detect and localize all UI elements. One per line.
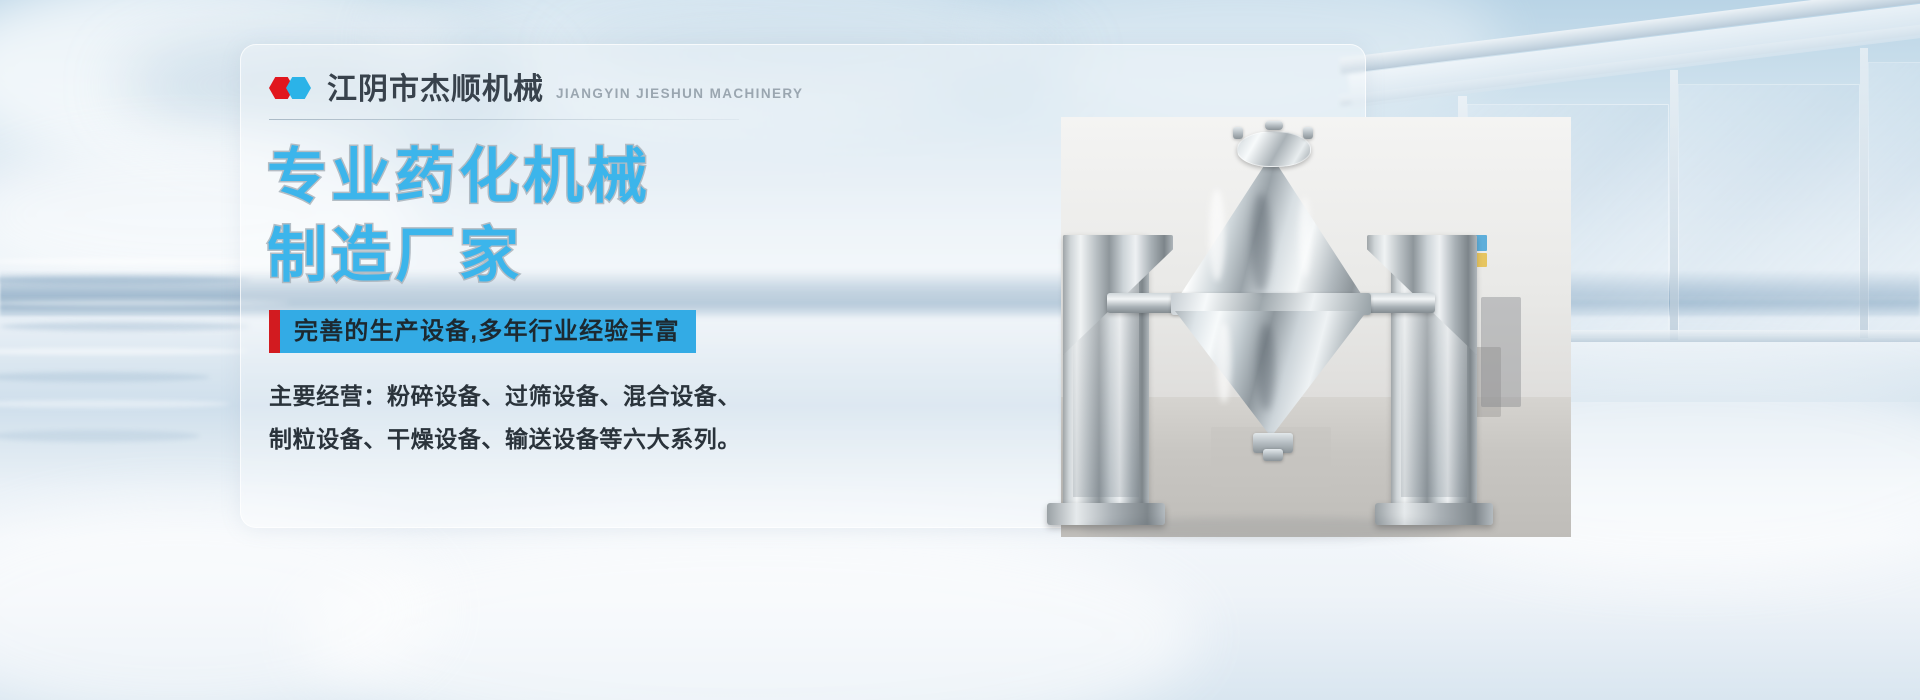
manhole-cover xyxy=(1237,131,1311,167)
floor-shadow xyxy=(1081,517,1461,541)
vessel-highlight xyxy=(1217,323,1231,403)
page-title: 专业药化机械 制造厂家 xyxy=(267,137,651,295)
hero-banner: 江阴市杰顺机械 JIANGYIN JIESHUN MACHINERY 专业药化机… xyxy=(0,0,1920,700)
manhole-clamp xyxy=(1233,127,1243,139)
vessel-shadow xyxy=(1251,193,1271,293)
headline-line-1: 专业药化机械 xyxy=(267,137,651,216)
discharge-outlet xyxy=(1263,449,1283,461)
product-image xyxy=(1011,97,1611,549)
description-line-2: 制粒设备、干燥设备、输送设备等六大系列。 xyxy=(269,418,789,461)
vessel-shadow xyxy=(1257,323,1275,411)
hexagon-blue-icon xyxy=(286,77,311,99)
content-card: 江阴市杰顺机械 JIANGYIN JIESHUN MACHINERY 专业药化机… xyxy=(240,44,1366,528)
company-name-cn: 江阴市杰顺机械 xyxy=(327,75,544,105)
tagline-accent-bar xyxy=(269,310,280,353)
headline-line-2: 制造厂家 xyxy=(267,216,651,295)
manhole-handle xyxy=(1265,121,1283,130)
manhole-clamp xyxy=(1303,127,1313,139)
logo[interactable]: 江阴市杰顺机械 JIANGYIN JIESHUN MACHINERY xyxy=(269,75,803,105)
sea-streak xyxy=(0,322,250,331)
hexagon-pair-icon xyxy=(269,75,315,99)
company-name-en: JIANGYIN JIESHUN MACHINERY xyxy=(556,86,803,101)
vessel-highlight xyxy=(1299,197,1311,277)
workshop-object xyxy=(1481,297,1521,407)
sea-streak xyxy=(0,430,200,442)
description-line-1: 主要经营：粉碎设备、过筛设备、混合设备、 xyxy=(269,375,789,418)
logo-divider xyxy=(269,119,739,120)
vessel-highlight xyxy=(1209,189,1225,281)
tagline-bar: 完善的生产设备,多年行业经验丰富 xyxy=(269,310,696,353)
tagline-text: 完善的生产设备,多年行业经验丰富 xyxy=(280,310,696,353)
description-text: 主要经营：粉碎设备、过筛设备、混合设备、 制粒设备、干燥设备、输送设备等六大系列… xyxy=(269,375,789,460)
